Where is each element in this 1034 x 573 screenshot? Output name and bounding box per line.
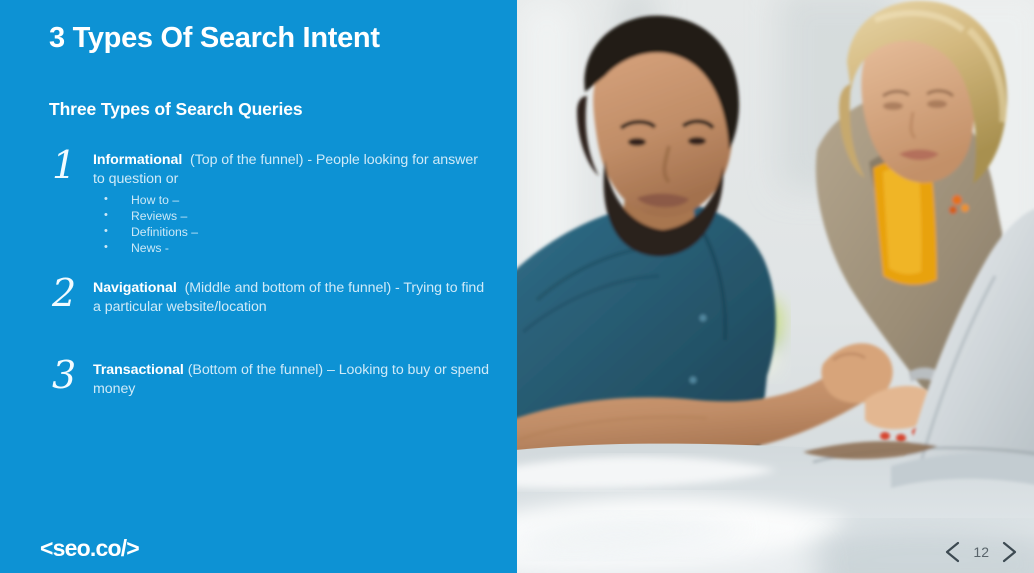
intent-number: 2: [49, 272, 93, 314]
sub-bullet-item: News -: [93, 240, 489, 256]
sub-bullet-list: How to – Reviews – Definitions – News -: [93, 192, 489, 256]
content-panel: 3 Types Of Search Intent Three Types of …: [0, 0, 517, 573]
chevron-left-icon[interactable]: [942, 539, 964, 565]
page-title: 3 Types Of Search Intent: [49, 22, 380, 55]
intent-label: Navigational: [93, 280, 177, 296]
intent-text: Transactional (Bottom of the funnel) – L…: [93, 361, 489, 398]
intent-text: Informational (Top of the funnel) - Peop…: [93, 151, 489, 188]
intent-label: Transactional: [93, 362, 184, 378]
sub-bullet-item: Reviews –: [93, 208, 489, 224]
photo-panel: 12: [517, 0, 1034, 573]
office-photo-illustration: [517, 0, 1034, 573]
page-number: 12: [973, 544, 989, 560]
intent-number: 1: [49, 144, 93, 186]
slide-pager: 12: [942, 539, 1020, 565]
sub-bullet-item: Definitions –: [93, 224, 489, 240]
intent-number: 3: [49, 354, 93, 396]
list-item: 2 Navigational (Middle and bottom of the…: [49, 274, 489, 316]
intent-body: Transactional (Bottom of the funnel) – L…: [93, 356, 489, 398]
list-item: 1 Informational (Top of the funnel) - Pe…: [49, 146, 489, 256]
page-subtitle: Three Types of Search Queries: [49, 99, 303, 120]
list-item: 3 Transactional (Bottom of the funnel) –…: [49, 356, 489, 398]
slide-root: 3 Types Of Search Intent Three Types of …: [0, 0, 1034, 573]
chevron-right-icon[interactable]: [998, 539, 1020, 565]
intent-text: Navigational (Middle and bottom of the f…: [93, 279, 489, 316]
intent-body: Informational (Top of the funnel) - Peop…: [93, 146, 489, 256]
intent-label: Informational: [93, 152, 182, 168]
intent-body: Navigational (Middle and bottom of the f…: [93, 274, 489, 316]
intent-list: 1 Informational (Top of the funnel) - Pe…: [49, 146, 489, 398]
seo-co-logo: <seo.co/>: [40, 535, 139, 562]
sub-bullet-item: How to –: [93, 192, 489, 208]
